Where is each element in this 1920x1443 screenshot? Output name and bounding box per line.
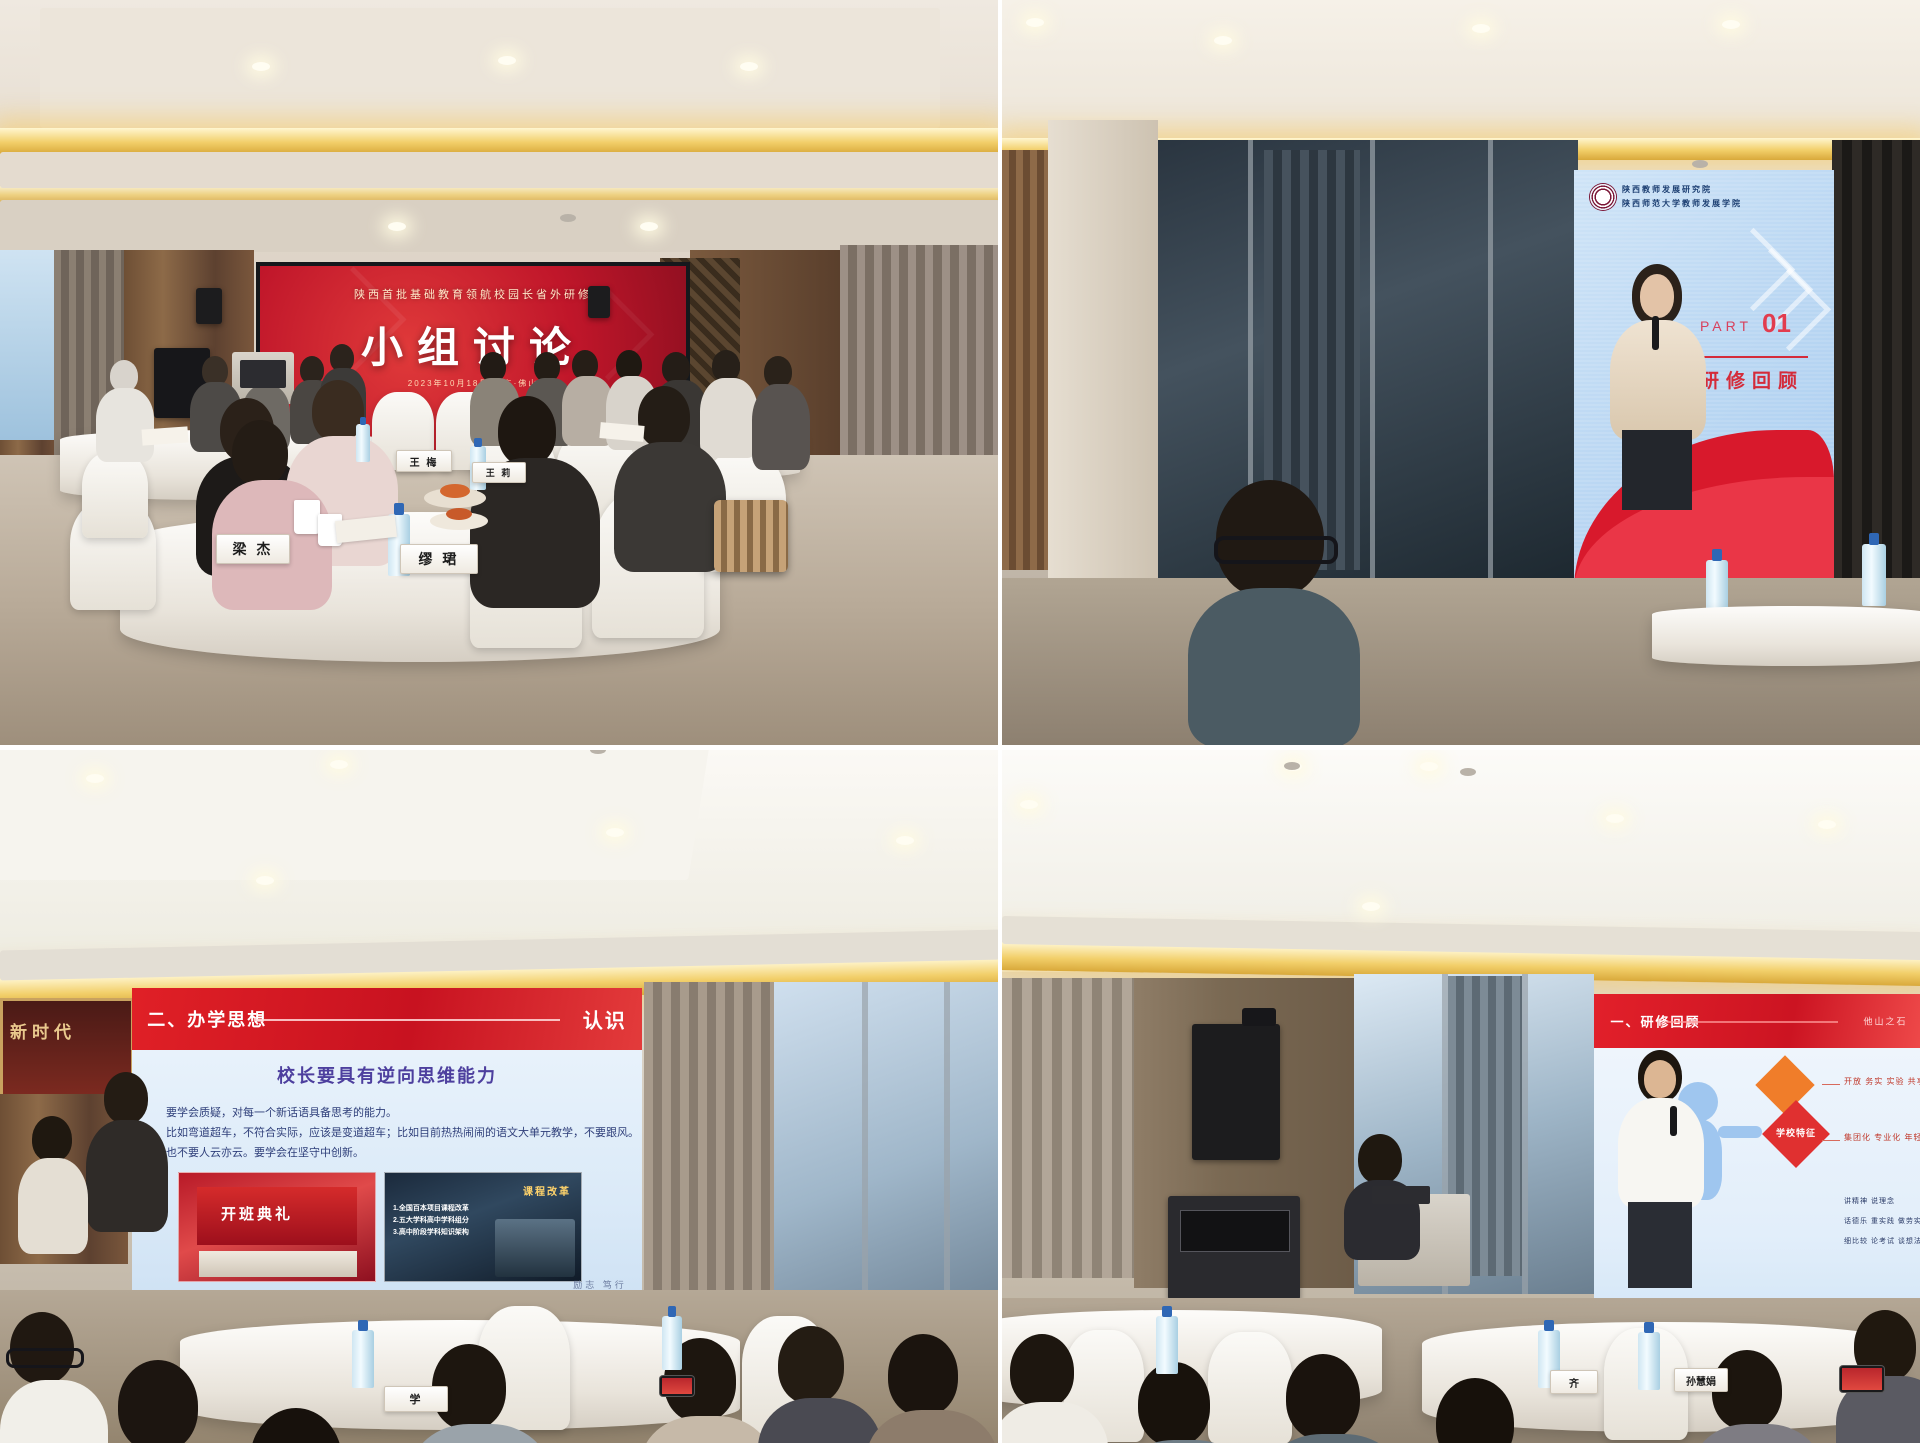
slide-rule: [1692, 356, 1808, 358]
slide-header-rule: [1667, 1021, 1839, 1023]
wall-art-text: 新时代: [10, 1018, 76, 1043]
downlight-icon: [330, 760, 348, 769]
slide-heading: 校长要具有逆向思维能力: [277, 1062, 497, 1088]
eyeglasses-icon: [6, 1348, 84, 1368]
document-papers: [141, 426, 188, 445]
window-right: [774, 982, 998, 1322]
row-connector: [1822, 1084, 1840, 1085]
cartoon-figure-arm: [1718, 1126, 1762, 1138]
thumb-photo-person: [495, 1219, 575, 1277]
head: [1138, 1362, 1210, 1443]
wall-pillar: [1048, 120, 1158, 580]
nameplate-label: 王 梅: [410, 454, 439, 469]
head: [1286, 1354, 1360, 1440]
window-mullion: [862, 982, 868, 1322]
thumb-people: [199, 1251, 357, 1277]
downlight-icon: [606, 828, 624, 837]
downlight-icon: [1722, 20, 1740, 29]
downlight-icon: [1606, 814, 1624, 823]
diamond-badge-orange: [1755, 1056, 1814, 1115]
nameplate: 梁 杰: [216, 534, 290, 564]
slide-header-left: 二、办学思想: [147, 1006, 267, 1032]
window-mullion: [944, 982, 950, 1322]
water-bottle: [662, 1316, 682, 1370]
downlight-icon: [1026, 18, 1044, 27]
slide-body: 校长要具有逆向思维能力 要学会质疑，对每一个新话语具备思考的能力。 比如弯道超车…: [132, 1050, 642, 1296]
torso: [614, 442, 726, 572]
thumb-title: 课程改革: [523, 1183, 571, 1198]
torso: [700, 378, 758, 458]
slide-org-line1: 陕西教师发展研究院: [1622, 184, 1712, 195]
skirt: [1622, 430, 1692, 510]
window-mullion: [1488, 140, 1493, 580]
handbag: [714, 500, 788, 572]
photo-collage: 陕西首批基础教育领航校园长省外研修 小组讨论 2023年10月18日 广东·佛山: [0, 0, 1920, 1443]
downlight-icon: [740, 62, 758, 71]
row-connector: [1822, 1140, 1840, 1141]
nameplate-label: 缪 珺: [419, 549, 460, 569]
water-bottle: [352, 1330, 374, 1388]
smoke-detector-icon: [1692, 160, 1708, 168]
smoke-detector-icon: [1460, 768, 1476, 776]
slide-header-right: 他山之石: [1863, 1015, 1907, 1028]
slide-row: 开放 务实 实验 共享 自信: [1844, 1076, 1920, 1087]
water-bottle: [356, 424, 370, 462]
torso-shirt: [1618, 1098, 1704, 1208]
nameplate: 学: [384, 1386, 448, 1412]
nameplate: 王 莉: [472, 462, 526, 483]
thumb-title: 开班典礼: [221, 1203, 293, 1224]
ceiling-soffit: [0, 152, 998, 188]
slide-paragraph: 要学会质疑，对每一个新话语具备思考的能力。: [166, 1104, 397, 1120]
nameplate-label: 孙慧娟: [1686, 1373, 1716, 1388]
downlight-icon: [1362, 902, 1380, 911]
wall-speaker: [1192, 1024, 1280, 1160]
head: [778, 1326, 844, 1404]
head: [498, 396, 556, 466]
slide-header-right: 认识: [583, 1004, 627, 1033]
panel-school-philosophy: 新时代 二、办学思想 认识 校长要具有逆向思维能力 要学会质疑，对每一个新话语具…: [0, 750, 998, 1443]
torso: [18, 1158, 88, 1254]
ceiling-recess: [0, 750, 712, 880]
downlight-icon: [1472, 24, 1490, 33]
slide-org-line2: 陕西师范大学教师发展学院: [1622, 198, 1742, 209]
water-bottle: [1638, 1332, 1660, 1390]
downlight-icon: [86, 774, 104, 783]
slide-row: 集团化 专业化 年轻化 有创新: [1844, 1132, 1920, 1143]
water-bottle: [1862, 544, 1886, 606]
chair: [82, 452, 148, 538]
projection-screen: 二、办学思想 认识 校长要具有逆向思维能力 要学会质疑，对每一个新话语具备思考的…: [132, 988, 642, 1296]
chair: [1208, 1332, 1292, 1443]
paper-cup: [294, 500, 320, 534]
nameplate-label: 学: [410, 1391, 423, 1407]
head: [104, 1072, 148, 1124]
thumb-line: 3.高中阶段学科知识架构: [393, 1227, 469, 1237]
slide-header-rule: [254, 1019, 560, 1021]
downlight-icon: [498, 56, 516, 65]
torso: [1188, 588, 1360, 745]
face: [1644, 1060, 1676, 1098]
downlight-icon: [1420, 762, 1438, 771]
downlight-icon: [1818, 820, 1836, 829]
ceiling-panel: [40, 8, 940, 128]
nameplate: 齐: [1550, 1370, 1598, 1394]
trousers: [1628, 1202, 1692, 1288]
microphone-icon: [1652, 316, 1659, 350]
thumb-line: 2.五大学科高中学科组分: [393, 1215, 469, 1225]
slide-thumbnail-left: 开班典礼: [178, 1172, 376, 1282]
downlight-icon: [388, 222, 406, 231]
torso: [86, 1120, 168, 1232]
water-bottle: [1156, 1316, 1178, 1374]
head: [232, 420, 288, 486]
slide-part-label: PART: [1700, 318, 1752, 334]
slide-header-bar: 二、办学思想 认识: [132, 988, 642, 1050]
head: [118, 1360, 198, 1443]
curtain-right: [644, 982, 774, 1312]
torso: [96, 388, 154, 462]
window-mullion: [1522, 974, 1528, 1294]
window-mullion: [1370, 140, 1375, 580]
head: [888, 1334, 958, 1416]
diamond-label: 学校特征: [1776, 1126, 1816, 1139]
panel-group-discussion: 陕西首批基础教育领航校园长省外研修 小组讨论 2023年10月18日 广东·佛山: [0, 0, 998, 745]
banner-date: 2023年10月18日 广东·佛山: [408, 378, 538, 389]
institution-seal-icon: [1590, 184, 1616, 210]
slide-part-title: 研修回顾: [1700, 366, 1804, 393]
slide-paragraph: 也不要人云亦云。要学会在坚守中创新。: [166, 1144, 364, 1160]
window-left: [0, 250, 56, 440]
nameplate-label: 梁 杰: [233, 539, 274, 559]
fruit: [440, 484, 470, 498]
smartphone: [660, 1376, 694, 1396]
slide-row: 话德乐 重实践 做劳实: [1844, 1216, 1920, 1226]
nameplate: 缪 珺: [400, 544, 478, 574]
slide-thumbnail-right: 课程改革 1.全国百本项目课程改革 2.五大学科高中学科组分 3.高中阶段学科知…: [384, 1172, 582, 1282]
audience-table: [1652, 606, 1920, 666]
thumb-line: 1.全国百本项目课程改革: [393, 1203, 469, 1213]
head: [1010, 1334, 1074, 1408]
speaker-box-right: [588, 286, 610, 318]
downlight-icon: [1214, 36, 1232, 45]
laptop: [240, 360, 286, 388]
laptop: [1372, 1186, 1430, 1204]
slide-header-bar: 一、研修回顾 他山之石: [1594, 994, 1920, 1048]
slide-paragraph: 比如弯道超车，不符合实际，应该是变道超车；比如目前热热闹闹的语文大单元教学，不要…: [166, 1124, 639, 1140]
fruit-2: [446, 508, 472, 520]
curtain-left: [1002, 978, 1134, 1278]
wall-wood-panel: [1002, 150, 1048, 570]
slide-part-number: 01: [1762, 308, 1791, 339]
smoke-detector-icon: [560, 214, 576, 222]
cove-light-strip: [0, 128, 998, 154]
smoke-detector-icon: [1284, 762, 1300, 770]
nameplate: 王 梅: [396, 450, 452, 472]
downlight-icon: [640, 222, 658, 231]
head: [1358, 1134, 1402, 1184]
eyeglasses-icon: [1214, 536, 1338, 564]
panel-part01-presentation: 陕西教师发展研究院 陕西师范大学教师发展学院 PART 01 研修回顾: [1002, 0, 1920, 745]
av-cabinet-panel: [1180, 1210, 1290, 1252]
downlight-icon: [252, 62, 270, 71]
projector: [1242, 1008, 1276, 1026]
microphone-icon: [1670, 1106, 1677, 1136]
wall-wood-panel-right: [1832, 140, 1920, 590]
downlight-icon: [896, 836, 914, 845]
head: [32, 1116, 72, 1162]
downlight-icon: [1020, 800, 1038, 809]
nameplate-label: 齐: [1569, 1375, 1579, 1390]
slide-row: 讲精神 说理念: [1844, 1196, 1895, 1206]
face: [1640, 274, 1674, 318]
banner-subtitle: 陕西首批基础教育领航校园长省外研修: [354, 286, 592, 302]
downlight-icon: [256, 876, 274, 885]
smartphone: [1840, 1366, 1884, 1392]
panel-training-review: 一、研修回顾 他山之石 学校特征 开放 务实 实验 共享 自信 集团化 专业化 …: [1002, 750, 1920, 1443]
speaker-box-left: [196, 288, 222, 324]
head: [638, 386, 690, 448]
slide-row: 细比较 论考试 谈想法评价: [1844, 1236, 1920, 1246]
nameplate: 孙慧娟: [1674, 1368, 1728, 1392]
nameplate-label: 王 莉: [486, 466, 513, 479]
torso: [752, 384, 810, 470]
